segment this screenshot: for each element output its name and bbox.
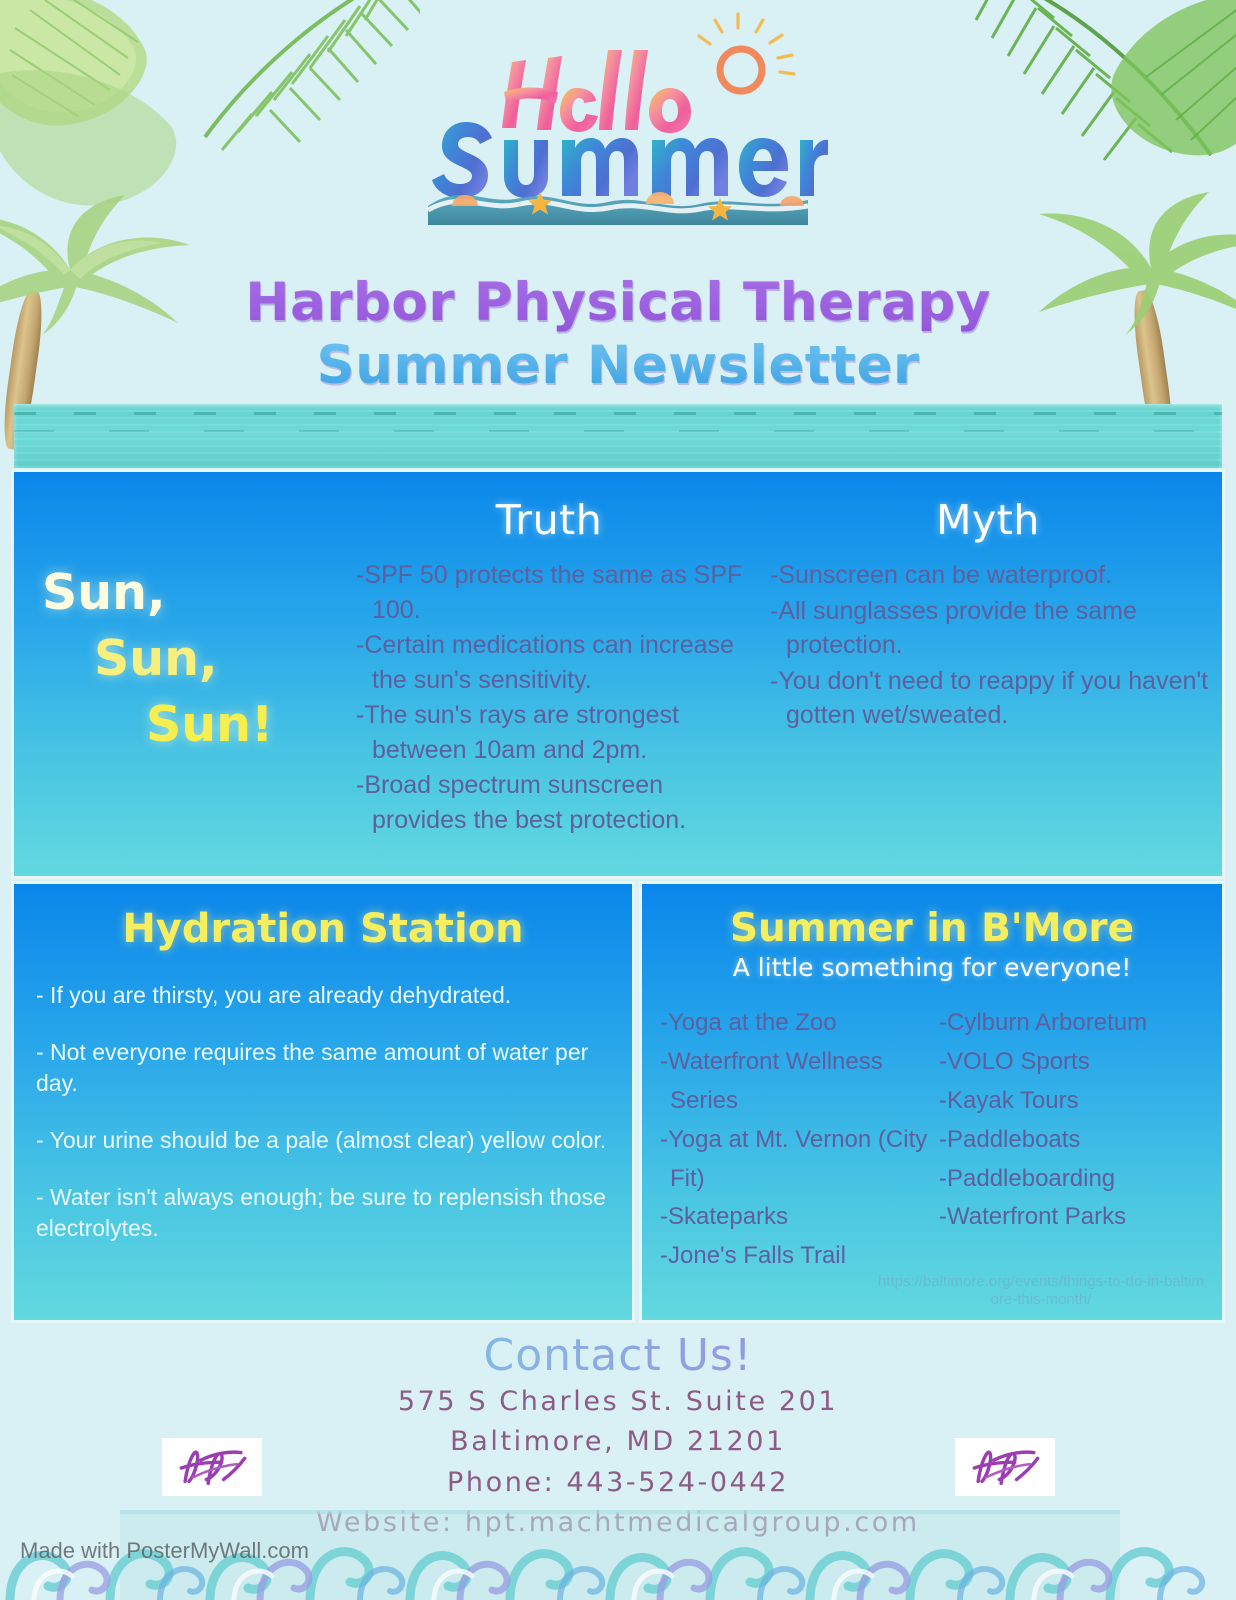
bmore-item: -Jone's Falls Trail <box>652 1237 933 1276</box>
footer-wave-decoration: Made with PosterMyWall.com <box>0 1500 1236 1600</box>
contact-heading: Contact Us! <box>0 1330 1236 1381</box>
myth-item: -All sunglasses provide the same protect… <box>758 594 1218 663</box>
hpt-logo-left <box>162 1438 262 1496</box>
sun-heading-line-3: Sun! <box>146 692 332 758</box>
bmore-left-list: -Yoga at the Zoo -Waterfront Wellness Se… <box>652 1004 933 1276</box>
bmore-columns: -Yoga at the Zoo -Waterfront Wellness Se… <box>652 1004 1214 1276</box>
bmore-right-list: -Cylburn Arboretum -VOLO Sports -Kayak T… <box>933 1004 1214 1276</box>
contact-address-line-1: 575 S Charles St. Suite 201 <box>0 1383 1236 1421</box>
poster-canvas: Harbor Physical Therapy Summer Newslette… <box>0 0 1236 1600</box>
myth-column: Myth -Sunscreen can be waterproof. -All … <box>758 496 1218 734</box>
bmore-item: -Paddleboarding <box>933 1160 1214 1199</box>
bmore-item: -Cylburn Arboretum <box>933 1004 1214 1043</box>
bmore-item: -Yoga at the Zoo <box>652 1004 933 1043</box>
bmore-item: -VOLO Sports <box>933 1043 1214 1082</box>
bmore-subheading: A little something for everyone! <box>642 953 1222 982</box>
summer-in-bmore-panel: Summer in B'More A little something for … <box>642 884 1222 1320</box>
water-band-divider <box>14 404 1222 468</box>
hydration-list: - If you are thirsty, you are already de… <box>36 980 610 1243</box>
truth-column: Truth -SPF 50 protects the same as SPF 1… <box>344 496 754 838</box>
sun-heading-line-1: Sun, <box>42 560 332 626</box>
truth-heading: Truth <box>344 496 754 544</box>
hpt-logo-right <box>955 1438 1055 1496</box>
sun-facts-panel: Sun, Sun, Sun! Truth -SPF 50 protects th… <box>14 472 1222 876</box>
postermywall-watermark: Made with PosterMyWall.com <box>20 1538 309 1564</box>
myth-list: -Sunscreen can be waterproof. -All sungl… <box>758 558 1218 733</box>
hydration-station-panel: Hydration Station - If you are thirsty, … <box>14 884 632 1320</box>
hello-summer-logo <box>408 10 828 225</box>
hydration-heading: Hydration Station <box>14 884 632 952</box>
bmore-item: -Yoga at Mt. Vernon (City Fit) <box>652 1121 933 1199</box>
truth-item: -SPF 50 protects the same as SPF 100. <box>344 558 754 627</box>
bmore-source-url[interactable]: https://baltimore.org/events/things-to-d… <box>876 1273 1206 1311</box>
poster-title: Harbor Physical Therapy Summer Newslette… <box>0 272 1236 397</box>
bmore-item: -Kayak Tours <box>933 1082 1214 1121</box>
myth-item: -Sunscreen can be waterproof. <box>758 558 1218 593</box>
hydration-item: - Your urine should be a pale (almost cl… <box>36 1125 610 1155</box>
truth-item: -Broad spectrum sunscreen provides the b… <box>344 768 754 837</box>
title-line-2: Summer Newsletter <box>0 335 1236 398</box>
hydration-item: - If you are thirsty, you are already de… <box>36 980 610 1010</box>
bmore-item: -Waterfront Wellness Series <box>652 1043 933 1121</box>
bmore-heading: Summer in B'More <box>642 884 1222 951</box>
hydration-item: - Water isn't always enough; be sure to … <box>36 1182 610 1243</box>
truth-list: -SPF 50 protects the same as SPF 100. -C… <box>344 558 754 837</box>
title-line-1: Harbor Physical Therapy <box>0 272 1236 335</box>
truth-item: -Certain medications can increase the su… <box>344 628 754 697</box>
bmore-item: -Waterfront Parks <box>933 1198 1214 1237</box>
poster-header: Harbor Physical Therapy Summer Newslette… <box>0 0 1236 470</box>
hpt-monogram-icon <box>957 1439 1053 1495</box>
bmore-item: -Paddleboats <box>933 1121 1214 1160</box>
truth-item: -The sun's rays are strongest between 10… <box>344 698 754 767</box>
hpt-monogram-icon <box>164 1439 260 1495</box>
hydration-item: - Not everyone requires the same amount … <box>36 1037 610 1098</box>
sun-heading: Sun, Sun, Sun! <box>42 560 332 758</box>
myth-heading: Myth <box>758 496 1218 544</box>
myth-item: -You don't need to reappy if you haven't… <box>758 664 1218 733</box>
sun-heading-line-2: Sun, <box>94 626 332 692</box>
bmore-item: -Skateparks <box>652 1198 933 1237</box>
